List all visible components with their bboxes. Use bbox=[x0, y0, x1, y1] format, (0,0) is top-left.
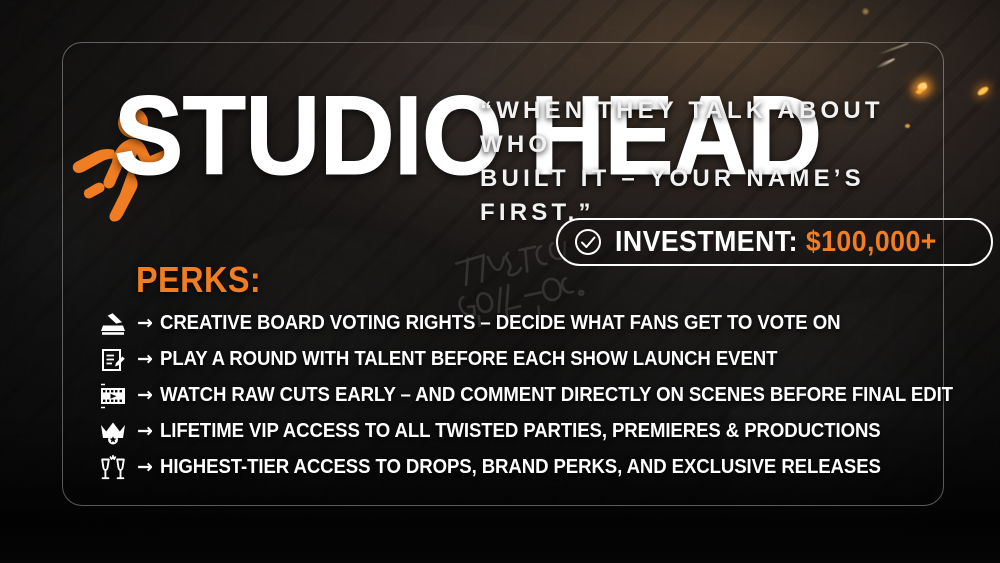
arrow-icon: → bbox=[130, 422, 160, 441]
film-strip-icon bbox=[96, 381, 130, 411]
perks-heading: PERKS: bbox=[136, 259, 261, 301]
quote-line-1: “WHEN THEY TALK ABOUT WHO bbox=[480, 94, 946, 162]
ballot-box-icon bbox=[96, 309, 130, 339]
document-pen-icon bbox=[96, 345, 130, 375]
list-item: → WATCH RAW CUTS EARLY – AND COMMENT DIR… bbox=[96, 378, 896, 413]
crown-icon bbox=[96, 417, 130, 447]
arrow-icon: → bbox=[130, 314, 160, 333]
perk-text: CREATIVE BOARD VOTING RIGHTS – DECIDE WH… bbox=[160, 312, 840, 335]
champagne-toast-icon bbox=[96, 453, 130, 483]
perk-text: LIFETIME VIP ACCESS TO ALL TWISTED PARTI… bbox=[160, 420, 881, 443]
investment-label: INVESTMENT: $100,000+ bbox=[615, 226, 937, 259]
list-item: → LIFETIME VIP ACCESS TO ALL TWISTED PAR… bbox=[96, 414, 896, 449]
perk-text: PLAY A ROUND WITH TALENT BEFORE EACH SHO… bbox=[160, 348, 777, 371]
list-item: → CREATIVE BOARD VOTING RIGHTS – DECIDE … bbox=[96, 306, 896, 341]
perk-text: HIGHEST-TIER ACCESS TO DROPS, BRAND PERK… bbox=[160, 456, 881, 479]
header-section: STUDIO HEAD “WHEN THEY TALK ABOUT WHO BU… bbox=[62, 42, 944, 242]
perk-text: WATCH RAW CUTS EARLY – AND COMMENT DIREC… bbox=[160, 384, 953, 407]
investment-badge: INVESTMENT: $100,000+ bbox=[556, 218, 993, 266]
arrow-icon: → bbox=[130, 350, 160, 369]
check-circle-icon bbox=[574, 228, 602, 256]
list-item: → PLAY A ROUND WITH TALENT BEFORE EACH S… bbox=[96, 342, 896, 377]
investment-amount: $100,000+ bbox=[806, 226, 937, 258]
perks-list: → CREATIVE BOARD VOTING RIGHTS – DECIDE … bbox=[96, 306, 896, 485]
investment-text: INVESTMENT: bbox=[615, 226, 806, 258]
quote-text: “WHEN THEY TALK ABOUT WHO BUILT IT – YOU… bbox=[480, 94, 946, 230]
arrow-icon: → bbox=[130, 458, 160, 477]
ember-particle bbox=[862, 8, 869, 15]
arrow-icon: → bbox=[130, 386, 160, 405]
list-item: → HIGHEST-TIER ACCESS TO DROPS, BRAND PE… bbox=[96, 450, 896, 485]
